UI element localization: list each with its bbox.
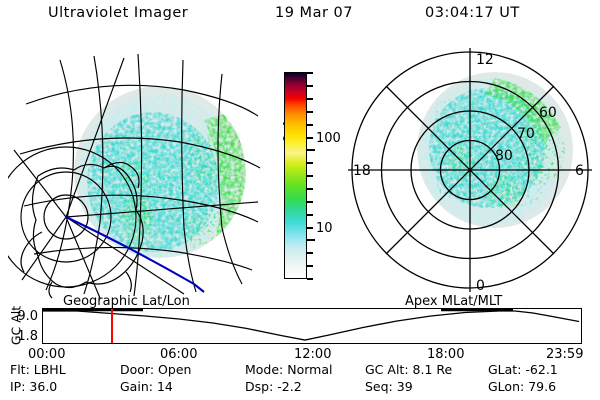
observation-time: 03:04:17 UT (425, 5, 520, 21)
status-gain-value: 14 (157, 379, 173, 394)
current-time-marker (111, 309, 113, 343)
header: Ultraviolet Imager 19 Mar 07 03:04:17 UT (0, 5, 600, 29)
instrument-title: Ultraviolet Imager (48, 5, 188, 21)
orbit-ytick-low: 1.8 (6, 329, 38, 344)
status-gcalt-value: 8.1 Re (413, 362, 453, 377)
mlat-label-80: 80 (495, 148, 513, 164)
status-door: Door: Open (120, 362, 191, 377)
orbit-xtick-0: 00:00 (28, 347, 65, 362)
status-ip-label: IP: (10, 379, 25, 394)
apex-polar-plot[interactable]: 12 18 6 0 60 70 80 (345, 42, 595, 300)
status-gain-label: Gain: (120, 379, 153, 394)
status-flt: Flt: LBHL (10, 362, 66, 377)
colorbar-ticks (307, 72, 314, 280)
status-mode-label: Mode: (245, 362, 283, 377)
status-dsp-label: Dsp: (245, 379, 273, 394)
status-flt-value: LBHL (34, 362, 66, 377)
orbit-track-svg (43, 309, 579, 341)
uvi-display: Ultraviolet Imager 19 Mar 07 03:04:17 UT (0, 0, 600, 400)
status-glat-value: -62.1 (525, 362, 557, 377)
status-glon: GLon: 79.6 (488, 379, 556, 394)
status-footer: Flt: LBHL Door: Open Mode: Normal GC Alt… (0, 362, 600, 400)
colorbar-gradient-box (284, 72, 307, 279)
colorbar[interactable]: photon cm-2s-1 (260, 60, 344, 290)
apex-svg: 12 18 6 0 60 70 80 (345, 42, 595, 300)
mlat-label-70: 70 (517, 126, 535, 142)
colorbar-label-100: 100 (316, 131, 341, 146)
orbit-plot-box (42, 308, 582, 344)
status-mode-value: Normal (287, 362, 332, 377)
orbit-xtick-1: 06:00 (160, 347, 197, 362)
status-gain: Gain: 14 (120, 379, 173, 394)
mlat-label-60: 60 (539, 105, 557, 121)
colorbar-label-10: 10 (316, 221, 333, 236)
status-seq-value: 39 (397, 379, 413, 394)
status-mode: Mode: Normal (245, 362, 333, 377)
geographic-plot[interactable] (8, 42, 263, 300)
status-flt-label: Flt: (10, 362, 30, 377)
orbit-xtick-3: 18:00 (427, 347, 464, 362)
status-dsp-value: -2.2 (277, 379, 301, 394)
status-ip-value: 36.0 (29, 379, 57, 394)
status-seq: Seq: 39 (365, 379, 413, 394)
orbit-xtick-4: 23:59 (546, 347, 583, 362)
apex-grid (348, 48, 592, 292)
status-door-value: Open (158, 362, 191, 377)
status-glon-label: GLon: (488, 379, 524, 394)
mlt-label-18: 18 (353, 163, 371, 179)
status-ip: IP: 36.0 (10, 379, 57, 394)
mlt-label-12: 12 (476, 52, 494, 68)
status-seq-label: Seq: (365, 379, 393, 394)
status-door-label: Door: (120, 362, 154, 377)
status-glon-value: 79.6 (528, 379, 556, 394)
orbit-xtick-2: 12:00 (294, 347, 331, 362)
mlt-label-0: 0 (476, 278, 485, 294)
status-dsp: Dsp: -2.2 (245, 379, 302, 394)
status-gcalt-label: GC Alt: (365, 362, 409, 377)
geographic-svg (8, 42, 263, 300)
orbit-altitude-strip[interactable]: GC Alt 9.0 1.8 00:00 06:00 12:00 18:00 2… (0, 305, 600, 360)
colorbar-gradient (285, 73, 306, 278)
orbit-altitude-curve (43, 311, 579, 340)
status-glat: GLat: -62.1 (488, 362, 558, 377)
mlt-label-6: 6 (575, 163, 584, 179)
status-glat-label: GLat: (488, 362, 521, 377)
orbit-ytick-high: 9.0 (6, 309, 38, 324)
observation-date: 19 Mar 07 (275, 5, 353, 21)
status-gcalt: GC Alt: 8.1 Re (365, 362, 452, 377)
